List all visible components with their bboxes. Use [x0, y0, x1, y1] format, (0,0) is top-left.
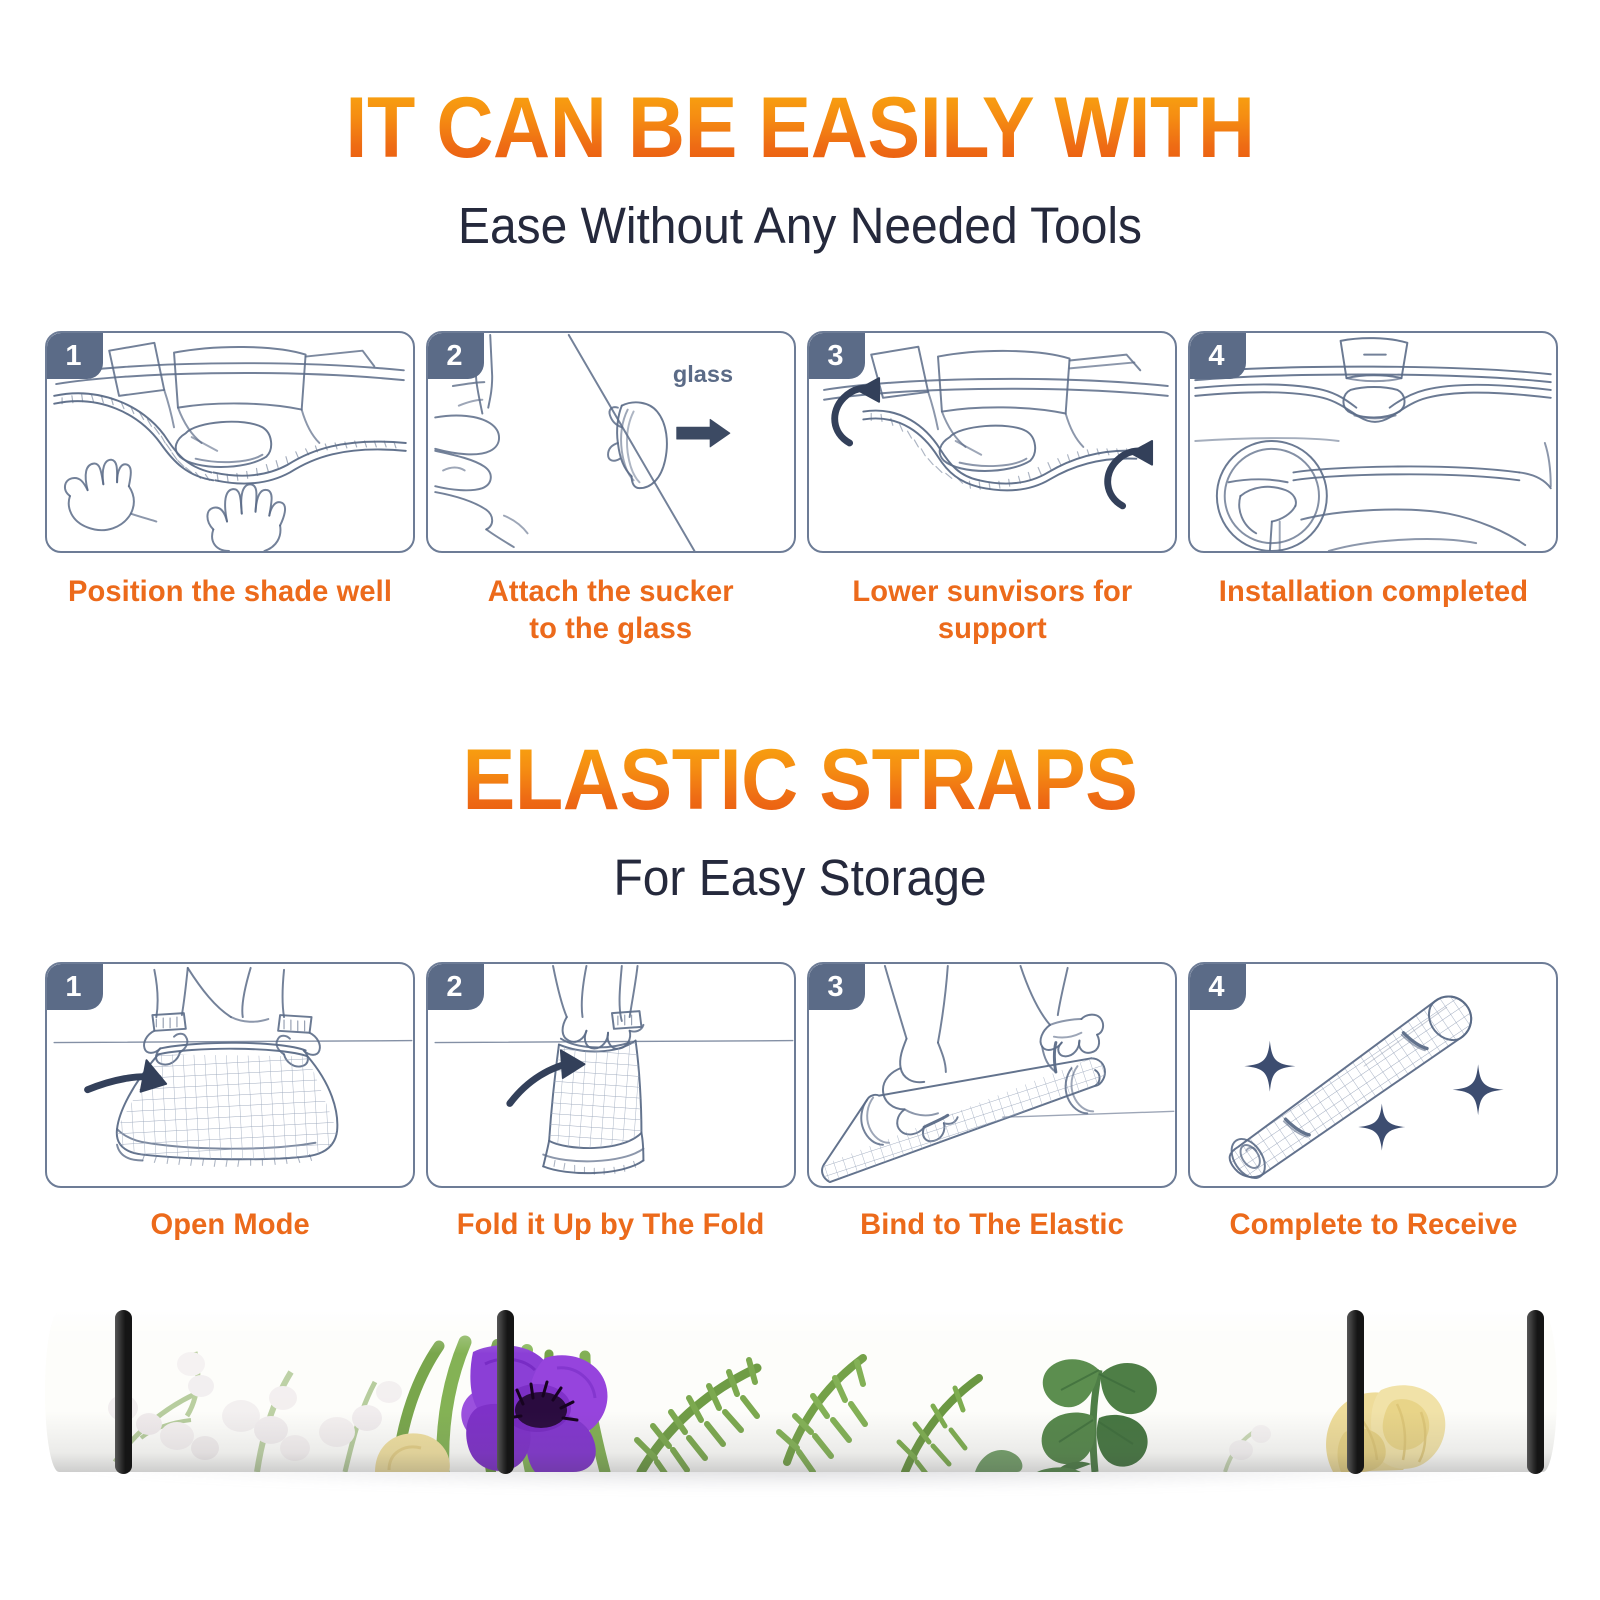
step-caption: Open Mode	[150, 1207, 309, 1244]
step-illustration-panel: 4	[1188, 962, 1558, 1188]
elastic-strap	[1347, 1310, 1364, 1474]
product-photo-rolled-sunshade	[45, 1312, 1557, 1487]
install-steps-row: 1	[45, 331, 1558, 647]
step-number-badge: 3	[809, 964, 865, 1010]
step-caption: Lower sunvisors for support	[852, 574, 1132, 647]
step-illustration-panel: 2	[426, 331, 796, 553]
step-card-install-4: 4	[1188, 331, 1558, 647]
step-caption-line-2: support	[852, 611, 1132, 648]
step-caption: Position the shade well	[68, 574, 392, 611]
step-number-badge: 1	[47, 964, 103, 1010]
step-number-badge: 3	[809, 333, 865, 379]
step-card-storage-4: 4	[1188, 962, 1558, 1244]
step-caption: Fold it Up by The Fold	[457, 1207, 765, 1244]
step-illustration-panel: 1	[45, 962, 415, 1188]
step-illustration-panel: 3	[807, 962, 1177, 1188]
elastic-strap	[115, 1310, 132, 1474]
section-heading-storage: ELASTIC STRAPS For Easy Storage	[0, 738, 1600, 907]
step-caption: Bind to The Elastic	[860, 1207, 1124, 1244]
section-heading-install: IT CAN BE EASILY WITH Ease Without Any N…	[0, 86, 1600, 255]
step-illustration-panel: 1	[45, 331, 415, 553]
page-subtitle: Ease Without Any Needed Tools	[48, 196, 1552, 255]
step-card-storage-2: 2	[426, 962, 796, 1244]
step-card-install-2: 2	[426, 331, 796, 647]
step-caption-line-1: Lower sunvisors for	[852, 574, 1132, 611]
elastic-strap	[497, 1310, 514, 1474]
page-subtitle-2: For Easy Storage	[48, 848, 1552, 907]
storage-steps-row: 1	[45, 962, 1558, 1244]
glass-label: glass	[673, 361, 733, 387]
step-number-badge: 2	[428, 964, 484, 1010]
step-card-storage-3: 3	[807, 962, 1177, 1244]
step-card-install-3: 3	[807, 331, 1177, 647]
step-illustration-panel: 4	[1188, 331, 1558, 553]
step-number-badge: 4	[1190, 964, 1246, 1010]
step-caption: Attach the sucker to the glass	[488, 574, 734, 647]
elastic-strap-end	[1527, 1310, 1544, 1474]
step-illustration-panel: 3	[807, 331, 1177, 553]
step-caption-line-2: to the glass	[488, 611, 734, 648]
step-card-install-1: 1	[45, 331, 415, 647]
step-number-badge: 4	[1190, 333, 1246, 379]
rolled-sunshade	[45, 1312, 1557, 1472]
step-caption-line-1: Attach the sucker	[488, 574, 734, 611]
floral-print-icon	[45, 1312, 1557, 1472]
step-illustration-panel: 2	[426, 962, 796, 1188]
page-title-2: ELASTIC STRAPS	[64, 738, 1536, 822]
step-card-storage-1: 1	[45, 962, 415, 1244]
page-title: IT CAN BE EASILY WITH	[64, 86, 1536, 170]
step-caption: Complete to Receive	[1229, 1207, 1517, 1244]
step-number-badge: 1	[47, 333, 103, 379]
step-number-badge: 2	[428, 333, 484, 379]
step-caption: Installation completed	[1218, 574, 1527, 611]
